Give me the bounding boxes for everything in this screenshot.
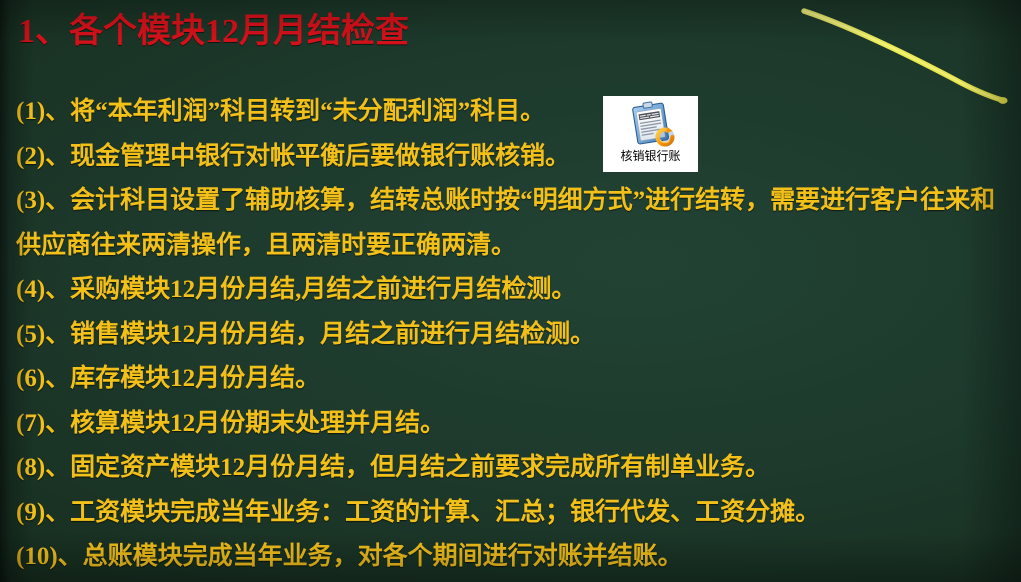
list-item: (8)、固定资产模块12月份月结，但月结之前要求完成所有制单业务。 (16, 446, 1006, 491)
list-item: (5)、销售模块12月份月结，月结之前进行月结检测。 (16, 313, 1006, 358)
list-item: (6)、库存模块12月份月结。 (16, 357, 1006, 402)
bank-reconcile-icon-card[interactable]: 核销银行账 (603, 96, 698, 172)
icon-caption: 核销银行账 (620, 149, 680, 163)
slide-body-list: (1)、将“本年利润”科目转到“未分配利润”科目。 (2)、现金管理中银行对帐平… (16, 90, 1006, 580)
list-item: (7)、核算模块12月份期末处理并月结。 (16, 402, 1006, 447)
list-item: (3)、会计科目设置了辅助核算，结转总账时按“明细方式”进行结转，需要进行客户往… (16, 179, 1006, 224)
list-item: (4)、采购模块12月份月结,月结之前进行月结检测。 (16, 268, 1006, 313)
list-item: (10)、总账模块完成当年业务，对各个期间进行对账并结账。 (16, 535, 1006, 580)
slide-title: 1、各个模块12月月结检查 (18, 11, 409, 53)
list-item: (9)、工资模块完成当年业务：工资的计算、汇总；银行代发、工资分摊。 (16, 491, 1006, 536)
clipboard-refresh-icon (625, 99, 677, 149)
list-item-continuation: 供应商往来两清操作，且两清时要正确两清。 (16, 224, 1006, 269)
list-item: (1)、将“本年利润”科目转到“未分配利润”科目。 (16, 90, 1006, 135)
list-item: (2)、现金管理中银行对帐平衡后要做银行账核销。 (16, 135, 1006, 180)
slide-canvas: 1、各个模块12月月结检查 (1)、将“本年利润”科目转到“未分配利润”科目。 … (0, 0, 1021, 582)
